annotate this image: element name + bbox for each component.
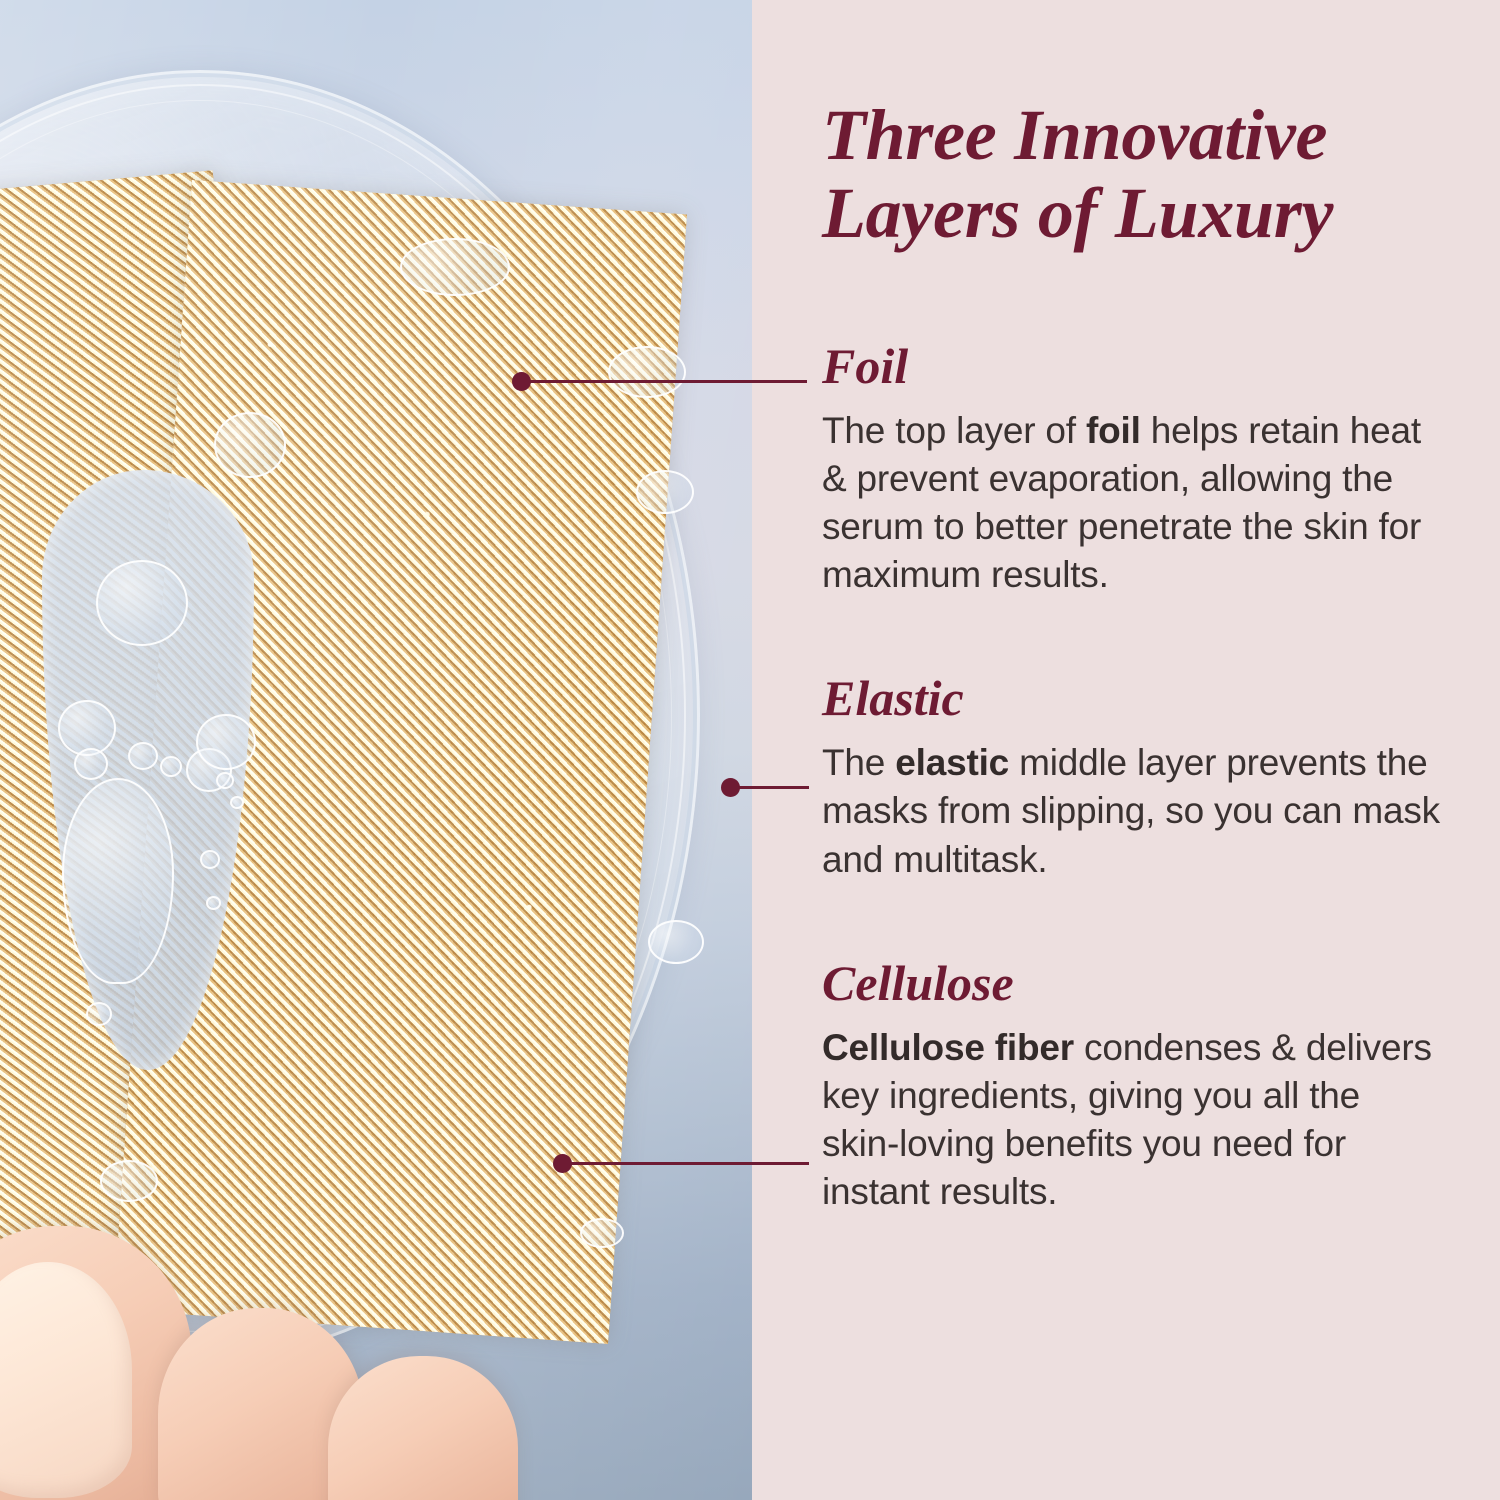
gel-bubble <box>128 742 158 770</box>
callout-line-cellulose <box>562 1162 809 1165</box>
gel-bubble <box>100 1160 158 1202</box>
gel-bubble <box>62 778 174 984</box>
callout-line-foil <box>521 380 807 383</box>
callout-line-elastic <box>730 786 809 789</box>
page-title: Three Innovative Layers of Luxury <box>822 96 1444 253</box>
gel-bubble <box>96 560 188 646</box>
layer-section-elastic: Elastic The elastic middle layer prevent… <box>822 673 1444 883</box>
layer-title-foil: Foil <box>822 341 1444 391</box>
gel-bubble <box>400 238 510 296</box>
gel-bubble <box>216 772 234 789</box>
gel-bubble <box>648 920 704 964</box>
gel-bubble <box>196 714 256 770</box>
product-layers-infographic: Three Innovative Layers of Luxury Foil T… <box>0 0 1500 1500</box>
layer-body-foil: The top layer of foil helps retain heat … <box>822 407 1442 599</box>
layer-body-elastic: The elastic middle layer prevents the ma… <box>822 739 1442 883</box>
product-photo <box>0 0 752 1500</box>
gel-bubble <box>580 1218 624 1248</box>
layer-title-elastic: Elastic <box>822 673 1444 723</box>
gel-bubble <box>214 412 286 478</box>
gel-bubble <box>636 470 694 514</box>
fingers-holding-disc <box>0 1200 490 1500</box>
gel-bubble <box>160 756 182 777</box>
layer-title-cellulose: Cellulose <box>822 958 1444 1008</box>
gel-bubble <box>608 346 686 398</box>
gel-bubble <box>206 896 221 910</box>
gel-bubble <box>230 796 244 809</box>
gel-bubble <box>86 1002 112 1026</box>
text-panel: Three Innovative Layers of Luxury Foil T… <box>752 0 1500 1500</box>
gel-bubble <box>74 748 108 780</box>
gel-bubble <box>200 850 220 869</box>
layer-section-foil: Foil The top layer of foil helps retain … <box>822 341 1444 599</box>
layer-body-cellulose: Cellulose fiber condenses & delivers key… <box>822 1024 1442 1216</box>
layer-section-cellulose: Cellulose Cellulose fiber condenses & de… <box>822 958 1444 1216</box>
